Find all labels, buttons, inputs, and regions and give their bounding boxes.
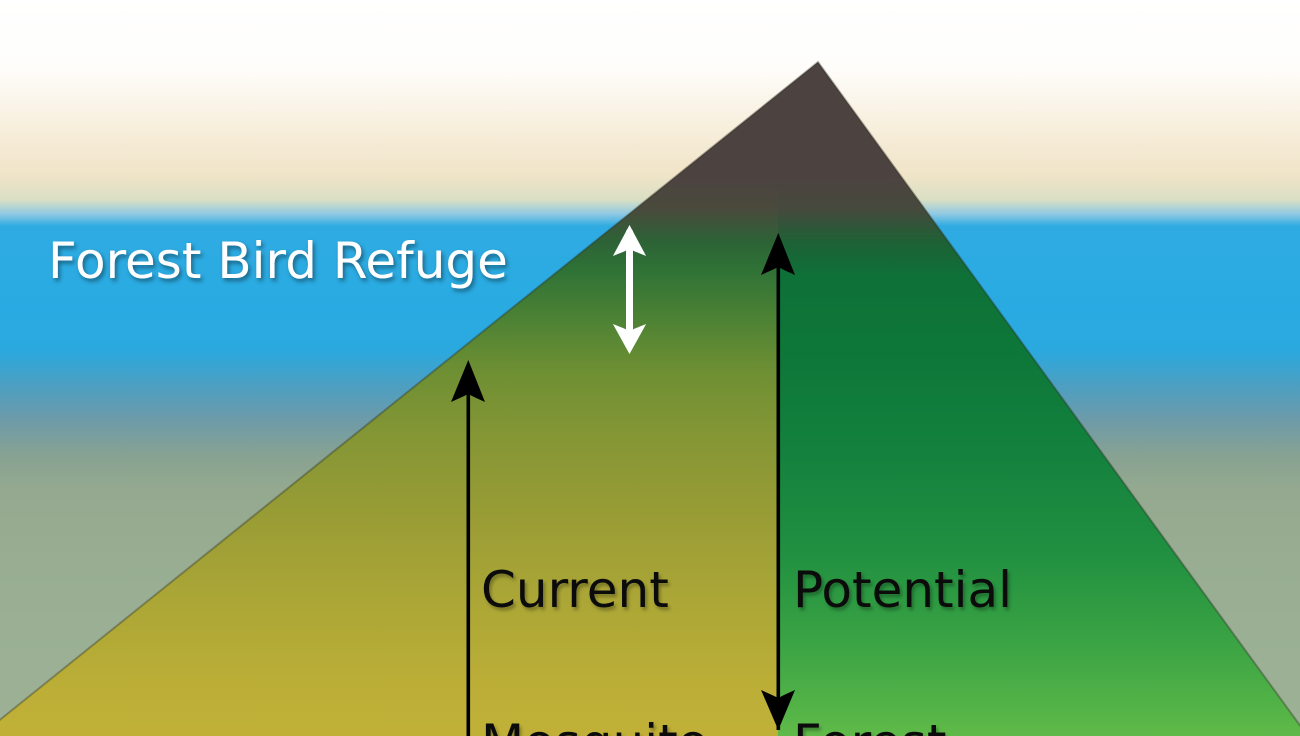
mosquito-label-line-1: Current <box>481 565 708 616</box>
current-mosquito-zone-label: Current Mosquito Zone <box>481 463 708 736</box>
diagram-canvas: Forest Bird Refuge Current Mosquito Zone… <box>0 0 1300 736</box>
habitat-label-line-1: Potential <box>793 565 1012 616</box>
potential-forest-habitat-label: Potential Forest Habitat <box>793 463 1012 736</box>
mosquito-label-line-2: Mosquito <box>481 718 708 736</box>
forest-bird-refuge-label: Forest Bird Refuge <box>48 236 508 286</box>
refuge-gap-double-arrow-icon <box>600 215 660 365</box>
habitat-label-line-2: Forest <box>793 718 1012 736</box>
